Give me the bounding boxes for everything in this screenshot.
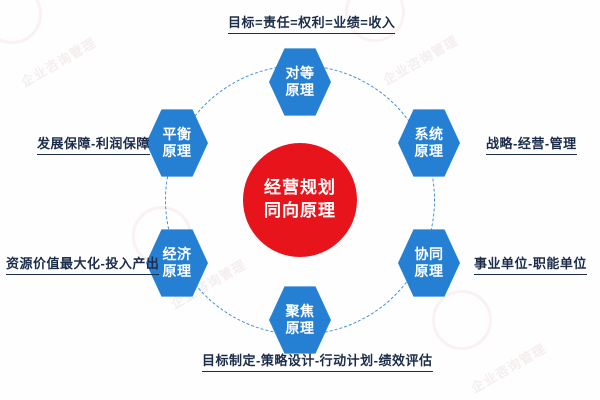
center-hub: 经营规划 同向原理 [243,143,357,257]
diagram-canvas: 企业咨询管理 企业咨询管理 企业咨询管理 企业咨询管理 经营规划 同向原理 对等… [0,0,600,400]
hexagon-label-line2: 原理 [286,320,315,338]
watermark-ring [0,0,42,44]
hexagon-label-line1: 平衡 [163,126,192,144]
hexagon-label-line1: 经济 [163,246,192,264]
hexagon-label-line1: 聚焦 [286,303,315,321]
center-hub-line1: 经营规划 [264,177,336,200]
annotation-label-bottom: 目标制定-策略设计-行动计划-绩效评估 [202,350,433,372]
annotation-label-lower-left: 资源价值最大化-投入产出 [6,253,159,275]
watermark-text: 企业咨询管理 [467,338,549,396]
hexagon-label-line2: 原理 [415,143,444,161]
hexagon-label-line1: 协同 [415,246,444,264]
hexagon-label-line2: 原理 [415,263,444,281]
annotation-label-upper-left: 发展保障-利润保障 [37,133,150,155]
hexagon-label-line1: 对等 [286,65,315,83]
hexagon-label-line1: 系统 [415,126,444,144]
hexagon-label-line2: 原理 [286,82,315,100]
watermark-text: 企业咨询管理 [379,30,461,88]
hexagon-label-line2: 原理 [163,143,192,161]
annotation-label-upper-right: 战略-经营-管理 [486,133,577,155]
annotation-label-top: 目标=责任=权利=业绩=收入 [228,12,395,34]
watermark-text: 企业咨询管理 [17,32,99,90]
hexagon-label-line2: 原理 [163,263,192,281]
watermark-ring [432,290,492,350]
annotation-label-lower-right: 事业单位-职能单位 [474,253,587,275]
center-hub-line2: 同向原理 [264,200,336,223]
